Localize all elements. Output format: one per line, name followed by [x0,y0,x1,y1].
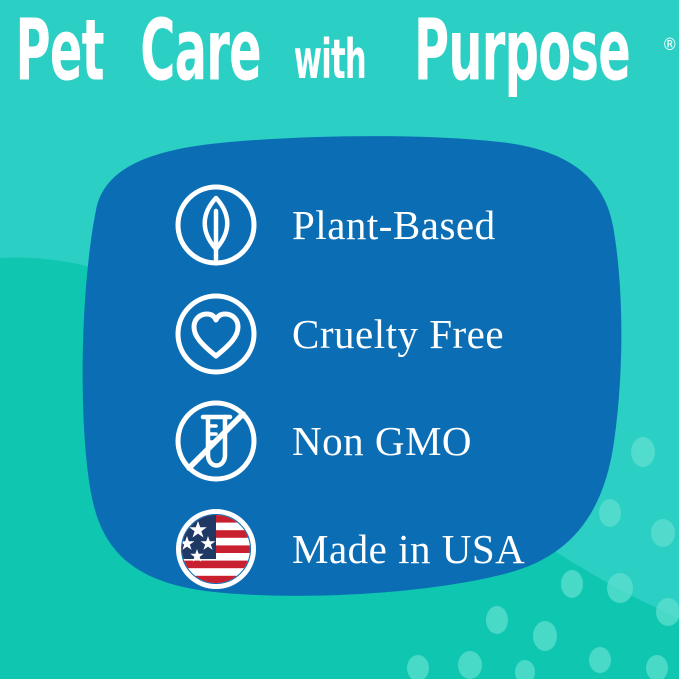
page-title: PetCarewithPurpose® [0,18,679,105]
badge-label-plant-based: Plant-Based [292,203,496,247]
headline-word-care: Care [141,4,262,96]
badge-row-plant-based: Plant-Based [168,177,496,273]
badge-label-cruelty-free: Cruelty Free [292,312,504,356]
headline-word-with: with [293,13,365,105]
usa-flag-icon [168,501,264,597]
badge-row-made-in-usa: Made in USA [168,501,525,597]
badge-row-non-gmo: Non GMO [168,393,472,489]
badge-label-non-gmo: Non GMO [292,419,472,463]
leaf-icon [168,177,264,273]
heart-icon [168,286,264,382]
badge-label-made-in-usa: Made in USA [292,527,525,571]
headline-word-purpose: Purpose [414,4,630,96]
promo-graphic: PetCarewithPurpose® Plant-Based [0,0,679,679]
badge-row-cruelty-free: Cruelty Free [168,286,504,382]
no-test-tube-icon [168,393,264,489]
headline-word-pet: Pet [16,4,104,96]
registered-trademark-symbol: ® [662,35,677,55]
